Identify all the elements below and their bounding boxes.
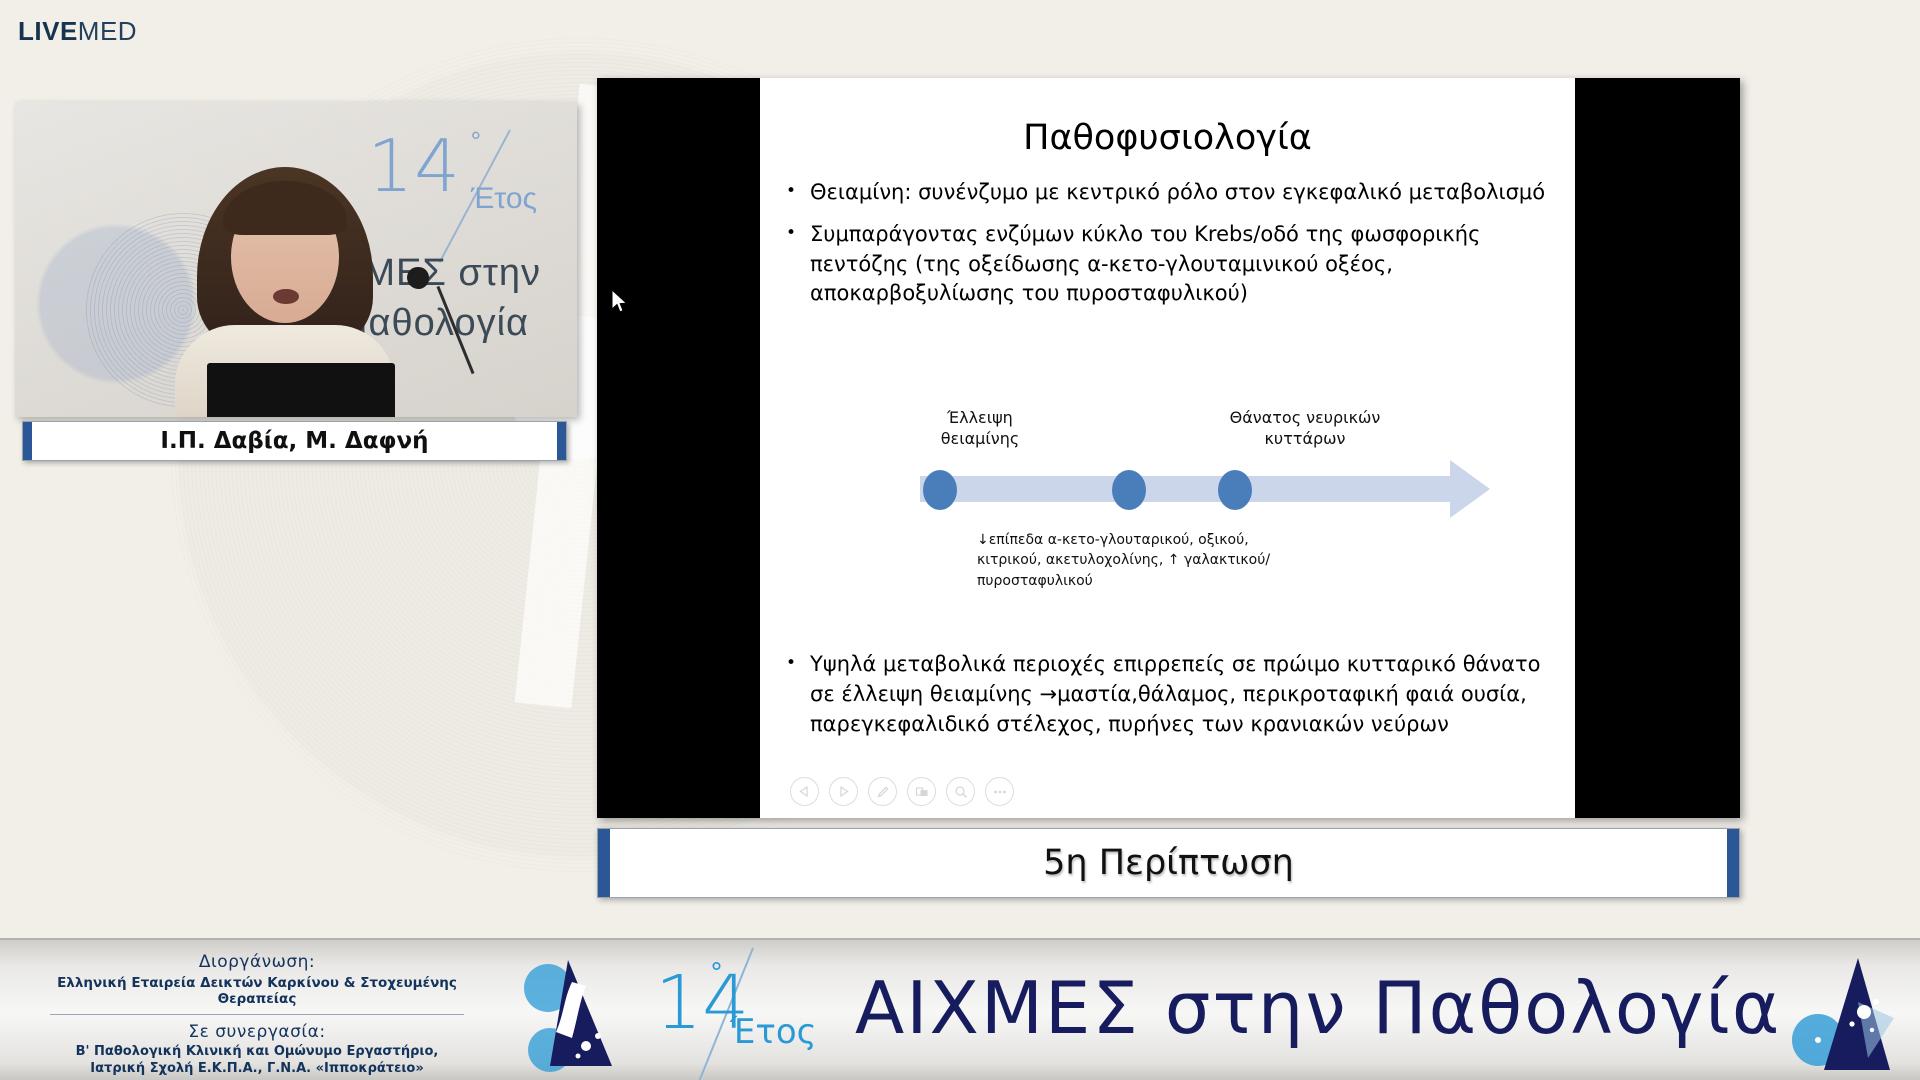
bullet-text: Θειαμίνη: συνένζυμο με κεντρικό ρόλο στο… xyxy=(810,178,1551,208)
diagram-arrow-head-icon xyxy=(1450,460,1490,518)
slide-bullets-top: • Θειαμίνη: συνένζυμο με κεντρικό ρόλο σ… xyxy=(786,178,1551,321)
footer-etos-label: Έτος xyxy=(730,1012,817,1052)
speaker-name-bar: Ι.Π. Δαβία, Μ. Δαφνή xyxy=(22,421,567,461)
session-caption-label: 5η Περίπτωση xyxy=(1043,843,1294,883)
session-caption-bar: 5η Περίπτωση xyxy=(597,828,1740,898)
brand-part-med: MED xyxy=(78,16,137,46)
brand-part-live: LIVE xyxy=(18,16,78,46)
bullet-text: Υψηλά μεταβολικά περιοχές επιρρεπείς σε … xyxy=(810,650,1551,739)
pen-icon[interactable] xyxy=(868,777,897,806)
next-slide-icon[interactable] xyxy=(829,777,858,806)
event-logo-right-icon xyxy=(1784,954,1902,1074)
collaboration-heading: Σε συνεργασία: xyxy=(22,1022,492,1042)
diagram-node xyxy=(923,470,957,510)
speaker-video-panel[interactable]: 14 ° Έτος ΑΙΧΜΕΣ στην Παθολογία xyxy=(15,102,577,417)
previous-slide-icon[interactable] xyxy=(790,777,819,806)
bullet-item: • Υψηλά μεταβολικά περιοχές επιρρεπείς σ… xyxy=(786,650,1551,739)
bullet-marker-icon: • xyxy=(786,650,796,739)
organizer-name: Ελληνική Εταιρεία Δεικτών Καρκίνου & Στο… xyxy=(22,975,492,1007)
backdrop-degree-symbol: ° xyxy=(471,126,481,157)
podium-laptop xyxy=(207,363,395,417)
slide-toolbar[interactable] xyxy=(790,777,1014,806)
slide-title: Παθοφυσιολογία xyxy=(760,118,1575,158)
slide-bullets-bottom: • Υψηλά μεταβολικά περιοχές επιρρεπείς σ… xyxy=(786,650,1551,751)
microphone-icon xyxy=(407,267,429,289)
event-footer: Διοργάνωση: Ελληνική Εταιρεία Δεικτών Κα… xyxy=(0,938,1920,1080)
process-arrow-diagram: Έλλειψηθειαμίνης Θάνατος νευρικώνκυττάρω… xyxy=(760,408,1575,658)
bullet-item: • Θειαμίνη: συνένζυμο με κεντρικό ρόλο σ… xyxy=(786,178,1551,208)
footer-divider xyxy=(50,1014,464,1015)
event-logo-left-icon xyxy=(520,954,630,1072)
zoom-icon[interactable] xyxy=(946,777,975,806)
diagram-label-right: Θάνατος νευρικώνκυττάρων xyxy=(1190,408,1420,450)
organizer-heading: Διοργάνωση: xyxy=(22,952,492,972)
bullet-text: Συμπαράγοντας ενζύμων κύκλο του Krebs/οδ… xyxy=(810,220,1551,309)
bullet-marker-icon: • xyxy=(786,178,796,208)
mouse-cursor xyxy=(612,290,629,320)
footer-degree-symbol: ° xyxy=(710,958,723,988)
bullet-item: • Συμπαράγοντας ενζύμων κύκλο του Krebs/… xyxy=(786,220,1551,309)
presentation-slide[interactable]: Παθοφυσιολογία • Θειαμίνη: συνένζυμο με … xyxy=(760,78,1575,818)
bullet-marker-icon: • xyxy=(786,220,796,309)
diagram-node xyxy=(1218,470,1252,510)
slides-overview-icon[interactable] xyxy=(907,777,936,806)
page-root: LIVEMED 14 ° Έτος ΑΙΧΜΕΣ στην Παθολογία … xyxy=(0,0,1920,1080)
slide-stage[interactable]: Παθοφυσιολογία • Θειαμίνη: συνένζυμο με … xyxy=(597,78,1740,818)
diagram-note-text: ↓επίπεδα α-κετο-γλουταρικού, οξικού, κιτ… xyxy=(977,530,1277,591)
footer-event-title: ΑΙΧΜΕΣ στην Παθολογία xyxy=(855,966,1781,1050)
speaker-mouth xyxy=(273,289,299,304)
diagram-arrow-shaft xyxy=(920,476,1460,502)
footer-organizer-block: Διοργάνωση: Ελληνική Εταιρεία Δεικτών Κα… xyxy=(22,952,492,1076)
diagram-label-left: Έλλειψηθειαμίνης xyxy=(900,408,1060,450)
collaboration-line-2: Ιατρική Σχολή Ε.Κ.Π.Α., Γ.Ν.Α. «Ιπποκράτ… xyxy=(22,1061,492,1076)
more-options-icon[interactable] xyxy=(985,777,1014,806)
backdrop-etos-label: Έτος xyxy=(471,182,537,216)
collaboration-line-1: Β' Παθολογική Κλινική και Ομώνυμο Εργαστ… xyxy=(22,1044,492,1059)
livemed-logo[interactable]: LIVEMED xyxy=(18,16,137,47)
speaker-name-label: Ι.Π. Δαβία, Μ. Δαφνή xyxy=(160,428,428,454)
diagram-node xyxy=(1112,470,1146,510)
